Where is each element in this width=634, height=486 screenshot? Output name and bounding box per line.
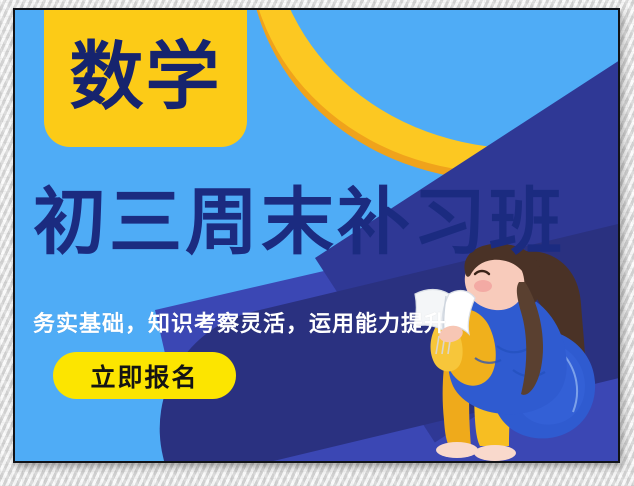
subject-badge: 数学 xyxy=(44,10,247,147)
girl-reading-illustration xyxy=(413,242,618,461)
signup-button[interactable]: 立即报名 xyxy=(53,352,236,399)
poster-headline: 初三周末补习班 xyxy=(33,186,613,259)
foot-left xyxy=(436,442,478,458)
poster-frame: 数学 初三周末补习班 务实基础，知识考察灵活，运用能力提升 xyxy=(13,8,620,463)
subject-badge-label: 数学 xyxy=(70,40,222,114)
cheek-blush xyxy=(474,280,492,292)
signup-button-label: 立即报名 xyxy=(90,358,198,394)
screenshot-stage: 数学 初三周末补习班 务实基础，知识考察灵活，运用能力提升 xyxy=(0,0,634,486)
poster-subtitle: 务实基础，知识考察灵活，运用能力提升 xyxy=(33,306,447,338)
foot-right xyxy=(474,445,516,461)
poster-canvas: 数学 初三周末补习班 务实基础，知识考察灵活，运用能力提升 xyxy=(15,10,618,461)
